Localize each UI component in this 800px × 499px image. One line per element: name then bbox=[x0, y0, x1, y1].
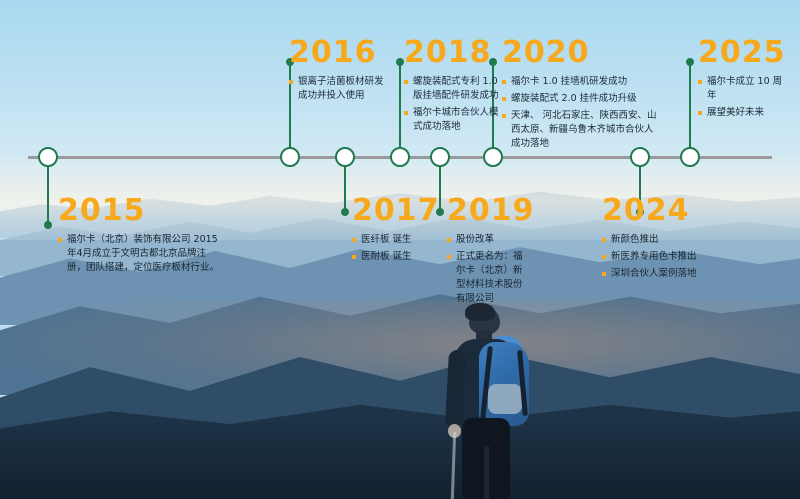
bullet-list-2015: 福尔卡（北京）装饰有限公司 2015 年4月成立于文明古都北京品牌注册，团队搭建… bbox=[58, 233, 220, 275]
timeline-node-2018[interactable] bbox=[390, 147, 410, 167]
bullet-item: 银离子洁菌板材研发成功并投入使用 bbox=[289, 75, 389, 103]
timeline-infographic: 2015福尔卡（北京）装饰有限公司 2015 年4月成立于文明古都北京品牌注册，… bbox=[0, 0, 800, 499]
foreground-shadow bbox=[0, 420, 800, 499]
bullet-item: 福尔卡（北京）装饰有限公司 2015 年4月成立于文明古都北京品牌注册，团队搭建… bbox=[58, 233, 220, 275]
timeline-node-2025[interactable] bbox=[680, 147, 700, 167]
bullet-item: 新颜色推出 bbox=[602, 233, 700, 247]
bullet-item: 深圳合伙人案例落地 bbox=[602, 267, 700, 281]
bullet-item: 福尔卡 1.0 挂墙机研发成功 bbox=[502, 75, 662, 89]
timeline-node-2016[interactable] bbox=[280, 147, 300, 167]
year-label-2025: 2025 bbox=[698, 38, 790, 68]
timeline-stem-dot-2017 bbox=[341, 208, 349, 216]
year-label-2016: 2016 bbox=[289, 38, 389, 68]
timeline-stem-dot-2015 bbox=[44, 221, 52, 229]
bullet-list-2024: 新颜色推出新医养专用色卡推出深圳合伙人案例落地 bbox=[602, 233, 700, 281]
bullet-list-2018: 螺旋装配式专利 1.0 版挂墙配件研发成功福尔卡城市合伙人模式成功落地 bbox=[404, 75, 502, 134]
bullet-item: 螺旋装配式专利 1.0 版挂墙配件研发成功 bbox=[404, 75, 502, 103]
timeline-stem-dot-2025 bbox=[686, 58, 694, 66]
hiker-leg-split bbox=[484, 446, 489, 499]
bullet-item: 新医养专用色卡推出 bbox=[602, 250, 700, 264]
bullet-item: 螺旋装配式 2.0 挂件成功升级 bbox=[502, 92, 662, 106]
bullet-item: 福尔卡成立 10 周年 bbox=[698, 75, 790, 103]
year-label-2018: 2018 bbox=[404, 38, 502, 68]
bullet-list-2020: 福尔卡 1.0 挂墙机研发成功螺旋装配式 2.0 挂件成功升级天津、 河北石家庄… bbox=[502, 75, 662, 151]
timeline-item-2018[interactable]: 2018螺旋装配式专利 1.0 版挂墙配件研发成功福尔卡城市合伙人模式成功落地 bbox=[404, 38, 502, 137]
bullet-item: 正式更名为：福尔卡（北京）新型材料技术股份有限公司 bbox=[447, 250, 527, 306]
timeline-item-2024[interactable]: 2024新颜色推出新医养专用色卡推出深圳合伙人案例落地 bbox=[602, 196, 700, 284]
bullet-list-2025: 福尔卡成立 10 周年展望美好未来 bbox=[698, 75, 790, 120]
year-label-2017: 2017 bbox=[352, 196, 430, 226]
timeline-stem-2018 bbox=[399, 62, 402, 147]
timeline-item-2020[interactable]: 2020福尔卡 1.0 挂墙机研发成功螺旋装配式 2.0 挂件成功升级天津、 河… bbox=[502, 38, 662, 154]
year-label-2020: 2020 bbox=[502, 38, 662, 68]
timeline-item-2017[interactable]: 2017医纤板 诞生医耐板 诞生 bbox=[352, 196, 430, 267]
timeline-stem-2025 bbox=[689, 62, 692, 147]
bullet-list-2019: 股份改革正式更名为：福尔卡（北京）新型材料技术股份有限公司 bbox=[447, 233, 527, 306]
timeline-stem-2015 bbox=[47, 167, 50, 225]
year-label-2024: 2024 bbox=[602, 196, 700, 226]
bullet-item: 展望美好未来 bbox=[698, 106, 790, 120]
timeline-item-2016[interactable]: 2016银离子洁菌板材研发成功并投入使用 bbox=[289, 38, 389, 106]
timeline-node-2017[interactable] bbox=[335, 147, 355, 167]
bullet-item: 医纤板 诞生 bbox=[352, 233, 430, 247]
bullet-item: 天津、 河北石家庄、陕西西安、山西太原、新疆乌鲁木齐城市合伙人成功落地 bbox=[502, 109, 662, 151]
timeline-item-2015[interactable]: 2015福尔卡（北京）装饰有限公司 2015 年4月成立于文明古都北京品牌注册，… bbox=[58, 196, 220, 278]
hiker-figure bbox=[432, 306, 562, 499]
timeline-item-2025[interactable]: 2025福尔卡成立 10 周年展望美好未来 bbox=[698, 38, 790, 123]
timeline-node-2015[interactable] bbox=[38, 147, 58, 167]
bullet-item: 股份改革 bbox=[447, 233, 527, 247]
bullet-list-2016: 银离子洁菌板材研发成功并投入使用 bbox=[289, 75, 389, 103]
year-label-2019: 2019 bbox=[447, 196, 527, 226]
backpack-pocket bbox=[488, 384, 522, 414]
bullet-list-2017: 医纤板 诞生医耐板 诞生 bbox=[352, 233, 430, 264]
timeline-item-2019[interactable]: 2019股份改革正式更名为：福尔卡（北京）新型材料技术股份有限公司 bbox=[447, 196, 527, 309]
timeline-stem-dot-2018 bbox=[396, 58, 404, 66]
bullet-item: 福尔卡城市合伙人模式成功落地 bbox=[404, 106, 502, 134]
bullet-item: 医耐板 诞生 bbox=[352, 250, 430, 264]
timeline-node-2019[interactable] bbox=[430, 147, 450, 167]
timeline-node-2020[interactable] bbox=[483, 147, 503, 167]
timeline-stem-2017 bbox=[344, 167, 347, 212]
year-label-2015: 2015 bbox=[58, 196, 220, 226]
trekking-pole bbox=[451, 432, 456, 499]
